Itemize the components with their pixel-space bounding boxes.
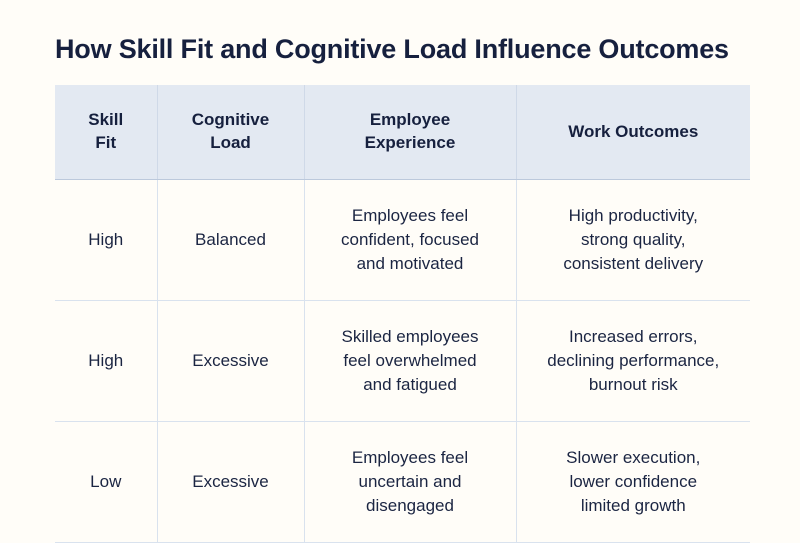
header-line-1: Skill (63, 109, 149, 132)
cell-line-3: consistent delivery (527, 252, 741, 276)
outcomes-table: Skill Fit Cognitive Load Employee (55, 85, 750, 543)
cell-skill-fit: Low (55, 422, 157, 543)
cell-work-outcomes: Increased errors, declining performance,… (516, 301, 750, 422)
cell-work-outcomes: High productivity, strong quality, consi… (516, 180, 750, 301)
cell-line-3: limited growth (527, 494, 741, 518)
outcomes-table-container: Skill Fit Cognitive Load Employee (55, 85, 750, 543)
header-line-2: Experience (313, 132, 508, 155)
header-line-1: Work Outcomes (525, 121, 743, 144)
column-header-work-outcomes: Work Outcomes (516, 85, 750, 180)
cell-cognitive-load: Excessive (157, 422, 304, 543)
cell-line-2: uncertain and (315, 470, 506, 494)
header-line-2: Load (166, 132, 296, 155)
page-title: How Skill Fit and Cognitive Load Influen… (55, 33, 755, 65)
column-header-employee-experience: Employee Experience (304, 85, 516, 180)
cell-line-2: declining performance, (527, 349, 741, 373)
cell-line-1: Employees feel (315, 204, 506, 228)
cell-line-2: confident, focused (315, 228, 506, 252)
cell-line-1: High productivity, (527, 204, 741, 228)
cell-line-3: burnout risk (527, 373, 741, 397)
cell-cognitive-load: Excessive (157, 301, 304, 422)
table-row: High Balanced Employees feel confident, … (55, 180, 750, 301)
cell-cognitive-load: Balanced (157, 180, 304, 301)
cell-line-3: and motivated (315, 252, 506, 276)
cell-skill-fit: High (55, 180, 157, 301)
column-header-skill-fit: Skill Fit (55, 85, 157, 180)
table-body: High Balanced Employees feel confident, … (55, 180, 750, 543)
cell-line-1: Increased errors, (527, 325, 741, 349)
table-row: High Excessive Skilled employees feel ov… (55, 301, 750, 422)
cell-skill-fit: High (55, 301, 157, 422)
table-header: Skill Fit Cognitive Load Employee (55, 85, 750, 180)
cell-line-1: Skilled employees (315, 325, 506, 349)
cell-employee-experience: Skilled employees feel overwhelmed and f… (304, 301, 516, 422)
cell-line-2: strong quality, (527, 228, 741, 252)
cell-line-2: lower confidence (527, 470, 741, 494)
cell-line-1: Slower execution, (527, 446, 741, 470)
column-header-cognitive-load: Cognitive Load (157, 85, 304, 180)
cell-line-1: Employees feel (315, 446, 506, 470)
infographic-page: How Skill Fit and Cognitive Load Influen… (0, 0, 800, 533)
cell-line-2: feel overwhelmed (315, 349, 506, 373)
header-row: Skill Fit Cognitive Load Employee (55, 85, 750, 180)
header-line-1: Cognitive (166, 109, 296, 132)
header-line-1: Employee (313, 109, 508, 132)
header-line-2: Fit (63, 132, 149, 155)
cell-employee-experience: Employees feel uncertain and disengaged (304, 422, 516, 543)
cell-line-3: disengaged (315, 494, 506, 518)
cell-line-3: and fatigued (315, 373, 506, 397)
cell-employee-experience: Employees feel confident, focused and mo… (304, 180, 516, 301)
table-row: Low Excessive Employees feel uncertain a… (55, 422, 750, 543)
cell-work-outcomes: Slower execution, lower confidence limit… (516, 422, 750, 543)
